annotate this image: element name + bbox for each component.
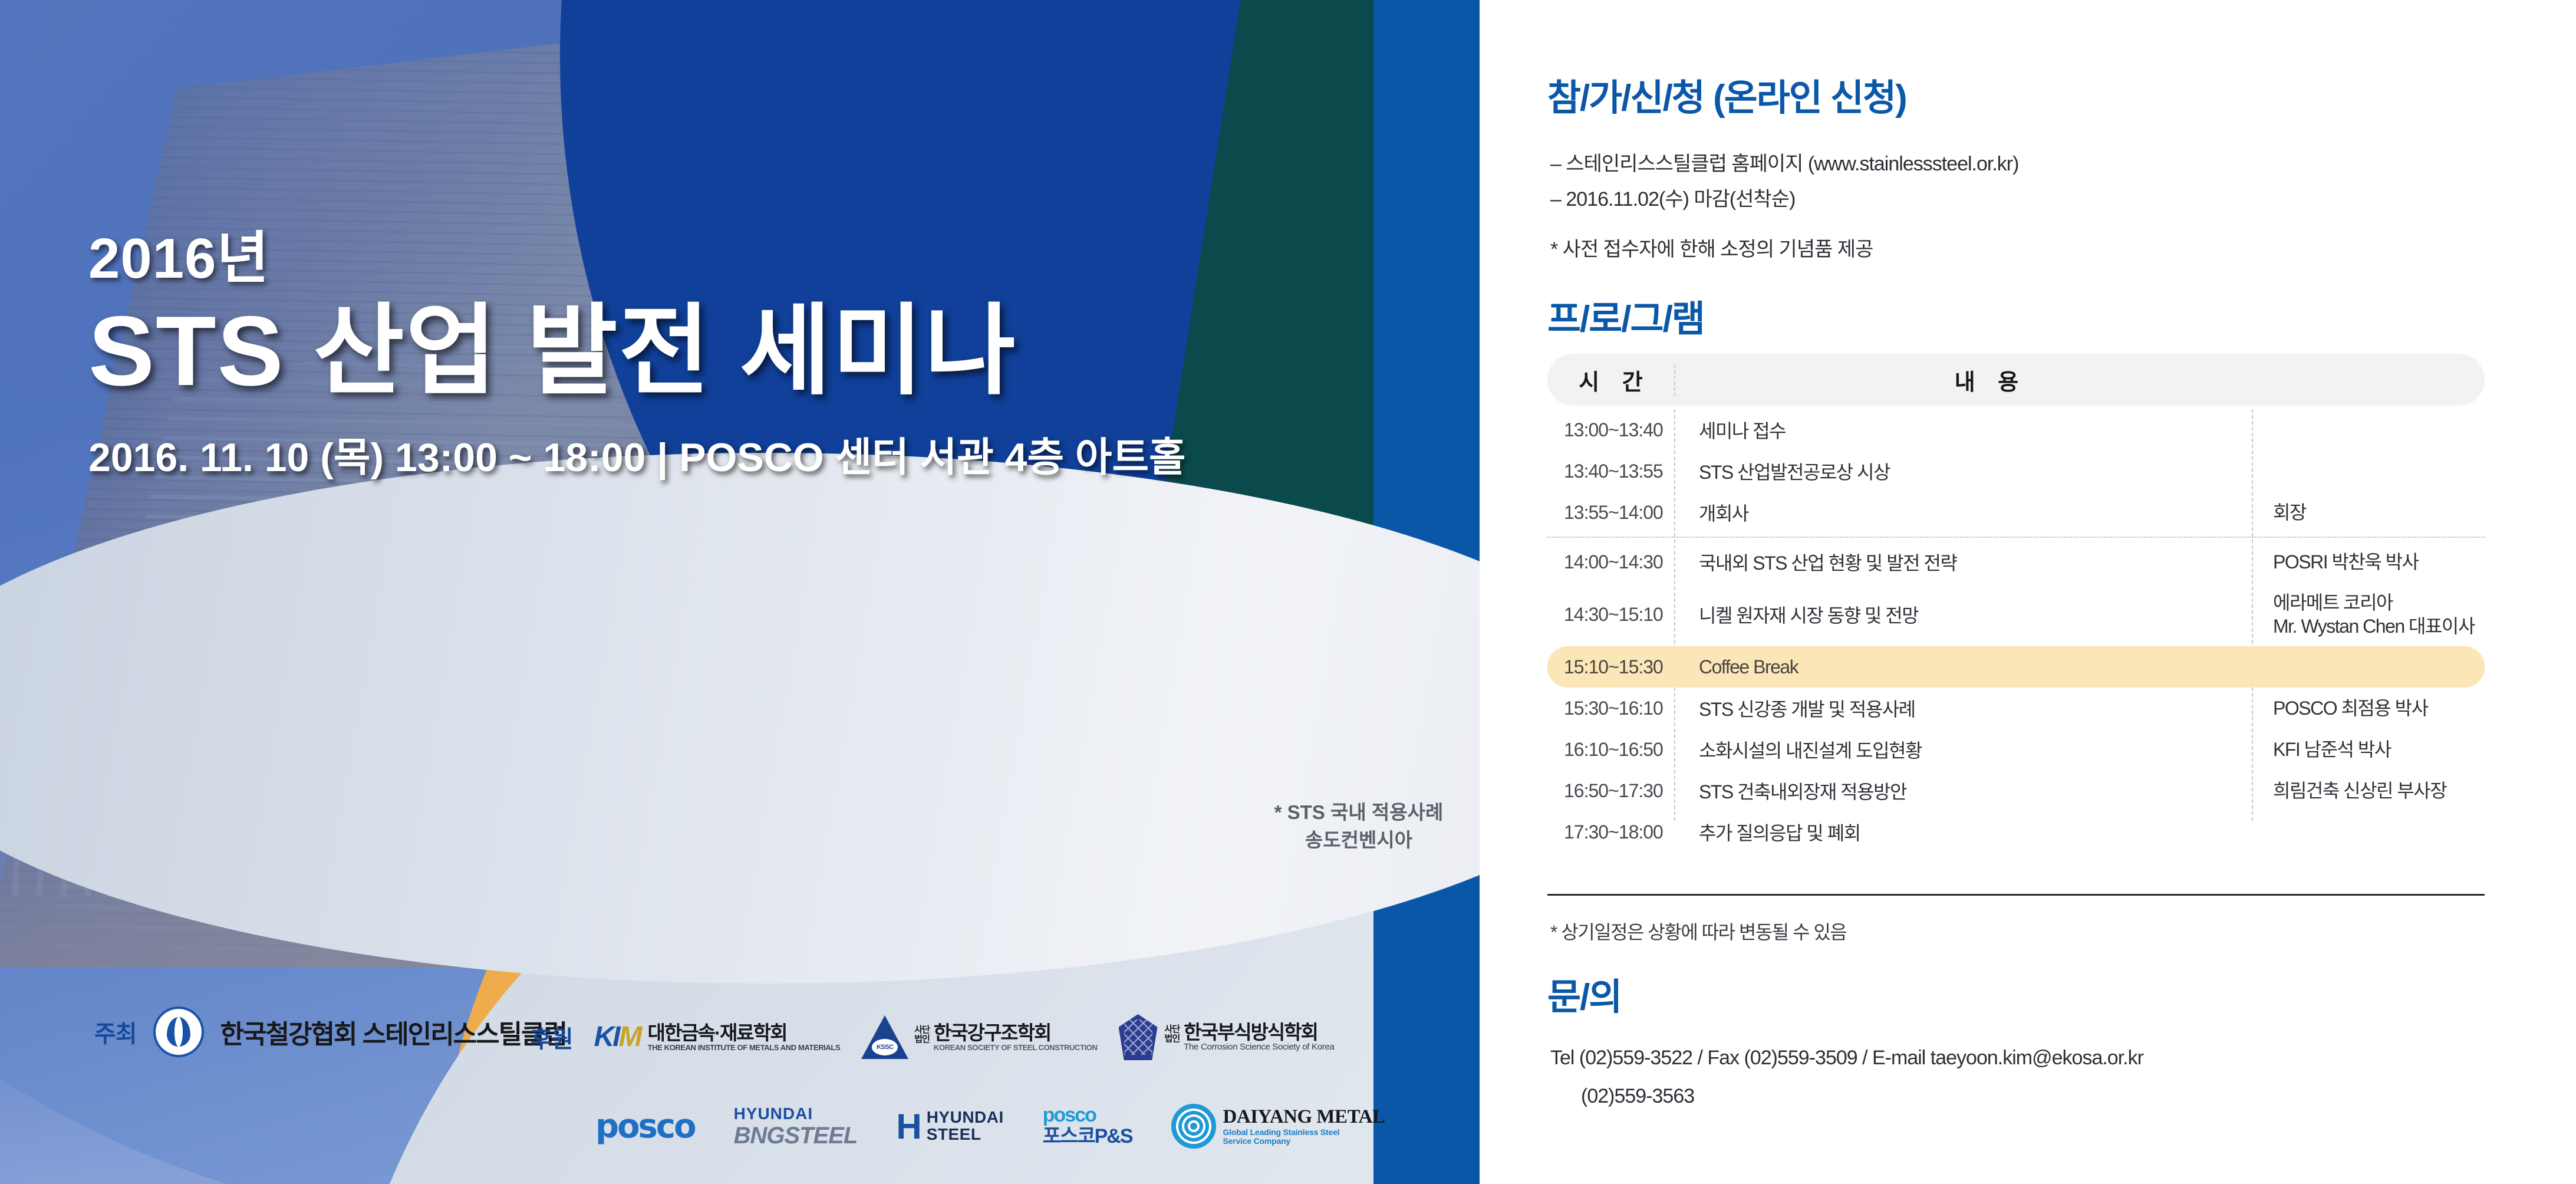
hyundai-h-icon: H bbox=[896, 1111, 921, 1142]
info-panel: 참/가/신/청 (온라인 신청) – 스테인리스스틸클럽 홈페이지 (www.s… bbox=[1480, 0, 2576, 1184]
program-row: 14:30~15:10니켈 원자재 시장 동향 및 전망에라메트 코리아Mr. … bbox=[1547, 583, 2485, 646]
hyundai-steel-line2: STEEL bbox=[927, 1126, 1004, 1143]
bng-bng-text: BNG bbox=[734, 1123, 785, 1149]
photo-caption-line-1: * STS 국내 적용사례 bbox=[1261, 799, 1456, 827]
host-row: 주최 한국철강협회 스테인리스스틸클럽 bbox=[94, 1007, 566, 1057]
program-row: 15:10~15:30Coffee Break bbox=[1547, 646, 2485, 688]
program-row-topic: 추가 질의응답 및 폐회 bbox=[1674, 818, 2252, 846]
program-row: 16:50~17:30STS 건축내외장재 적용방안희림건축 신상린 부사장 bbox=[1547, 770, 2485, 811]
program-row: 17:30~18:00추가 질의응답 및 폐회 bbox=[1547, 811, 2485, 853]
application-heading: 참/가/신/청 (온라인 신청) bbox=[1547, 68, 1906, 121]
posco-logo: posco bbox=[595, 1107, 695, 1146]
program-row-time: 17:30~18:00 bbox=[1547, 821, 1674, 843]
table-bottom-rule bbox=[1547, 894, 2485, 896]
kssc-name-kr: 한국강구조학회 bbox=[934, 1023, 1098, 1044]
program-row: 13:40~13:55STS 산업발전공로상 시상 bbox=[1547, 450, 2485, 492]
hyundai-steel-logo: H HYUNDAI STEEL bbox=[896, 1109, 1003, 1143]
corporate-logo-row: posco HYUNDAI BNGSTEEL H HYUNDAI STEEL p… bbox=[595, 1104, 1385, 1149]
program-table-header: 시 간 내 용 bbox=[1547, 354, 2485, 406]
csskr-name-kr: 한국부식방식학회 bbox=[1184, 1022, 1334, 1043]
kim-name-en: THE KOREAN INSTITUTE OF METALS AND MATER… bbox=[648, 1044, 841, 1052]
program-row-topic: Coffee Break bbox=[1674, 656, 2252, 678]
pns-kr-text: 포스코P&S bbox=[1043, 1126, 1132, 1147]
daiyang-target-icon bbox=[1171, 1104, 1216, 1149]
bng-steel-text: STEEL bbox=[784, 1123, 857, 1149]
kisa-logo-icon bbox=[153, 1007, 204, 1057]
host-organization: 한국철강협회 스테인리스스틸클럽 bbox=[220, 1013, 566, 1051]
program-row-topic: 개회사 bbox=[1674, 499, 2252, 526]
program-row-time: 13:55~14:00 bbox=[1547, 502, 1674, 524]
program-row-topic: STS 신강종 개발 및 적용사례 bbox=[1674, 695, 2252, 722]
program-row-time: 15:30~16:10 bbox=[1547, 698, 1674, 719]
program-table-body: 13:00~13:40세미나 접수13:40~13:55STS 산업발전공로상 … bbox=[1547, 409, 2485, 853]
hyundai-steel-line1: HYUNDAI bbox=[927, 1109, 1004, 1126]
program-row-time: 13:40~13:55 bbox=[1547, 461, 1674, 482]
kssc-triangle-icon bbox=[861, 1015, 908, 1059]
poster-visual-panel: 2016년 STS 산업 발전 세미나 2016. 11. 10 (목) 13:… bbox=[0, 0, 1480, 1184]
kssc-name-en: KOREAN SOCIETY OF STEEL CONSTRUCTION bbox=[934, 1044, 1098, 1052]
program-row-topic: 니켈 원자재 시장 동향 및 전망 bbox=[1674, 601, 2252, 628]
bng-steel-logo: HYUNDAI BNGSTEEL bbox=[734, 1106, 858, 1147]
program-row-time: 14:30~15:10 bbox=[1547, 604, 1674, 626]
photo-caption: * STS 국내 적용사례 송도컨벤시아 bbox=[1261, 799, 1456, 854]
program-row-time: 14:00~14:30 bbox=[1547, 551, 1674, 573]
program-row-speaker: POSRI 박찬욱 박사 bbox=[2252, 550, 2485, 574]
bng-hyundai-text: HYUNDAI bbox=[734, 1106, 858, 1122]
program-row: 13:00~13:40세미나 접수 bbox=[1547, 409, 2485, 450]
host-label: 주최 bbox=[94, 1015, 137, 1049]
sponsor-label: 후원 bbox=[531, 1020, 573, 1054]
csskr-name-en: The Corrosion Science Society of Korea bbox=[1184, 1042, 1334, 1052]
contact-line-1: Tel (02)559-3522 / Fax (02)559-3509 / E-… bbox=[1550, 1047, 2143, 1070]
kssc-logo: 사단법인 한국강구조학회 KOREAN SOCIETY OF STEEL CON… bbox=[861, 1015, 1097, 1059]
bottom-curve bbox=[0, 453, 1480, 984]
daiyang-tagline2: Service Company bbox=[1223, 1137, 1385, 1146]
program-footnote: * 상기일정은 상황에 따라 변동될 수 있음 bbox=[1550, 917, 1846, 945]
csskr-prefix: 사단법인 bbox=[1165, 1022, 1180, 1044]
photo-caption-line-2: 송도컨벤시아 bbox=[1261, 827, 1456, 854]
program-row-topic: STS 건축내외장재 적용방안 bbox=[1674, 777, 2252, 804]
poster-datetime-venue: 2016. 11. 10 (목) 13:00 ~ 18:00 | POSCO 센… bbox=[88, 425, 1186, 483]
seminar-poster: 2016년 STS 산업 발전 세미나 2016. 11. 10 (목) 13:… bbox=[0, 0, 2576, 1184]
program-row-speaker: 에라메트 코리아Mr. Wystan Chen 대표이사 bbox=[2252, 591, 2485, 639]
program-row-time: 16:50~17:30 bbox=[1547, 780, 1674, 802]
column-header-content: 내 용 bbox=[1674, 354, 2299, 406]
program-row-topic: 국내외 STS 산업 현황 및 발전 전략 bbox=[1674, 548, 2252, 575]
kim-name-kr: 대한금속·재료학회 bbox=[648, 1023, 841, 1044]
sponsor-row: 후원 KIM 대한금속·재료학회 THE KOREAN INSTITUTE OF… bbox=[531, 1014, 1335, 1060]
application-note: * 사전 접수자에 한해 소정의 기념품 제공 bbox=[1550, 233, 1873, 262]
program-row-speaker: POSCO 최점용 박사 bbox=[2252, 696, 2485, 720]
kim-logo: KIM 대한금속·재료학회 THE KOREAN INSTITUTE OF ME… bbox=[594, 1023, 841, 1051]
program-row-speaker: KFI 남준석 박사 bbox=[2252, 738, 2485, 761]
program-row: 15:30~16:10STS 신강종 개발 및 적용사례POSCO 최점용 박사 bbox=[1547, 688, 2485, 729]
posco-pns-logo: posco 포스코P&S bbox=[1043, 1105, 1132, 1147]
program-row-speaker: 회장 bbox=[2252, 501, 2485, 524]
kssc-prefix: 사단법인 bbox=[914, 1023, 930, 1045]
program-row-separator bbox=[1547, 537, 2485, 538]
kim-mark-icon: KIM bbox=[594, 1023, 641, 1051]
program-row: 13:55~14:00개회사회장 bbox=[1547, 492, 2485, 533]
application-line-2: – 2016.11.02(수) 마감(선착순) bbox=[1550, 183, 1795, 212]
daiyang-tagline1: Global Leading Stainless Steel bbox=[1223, 1128, 1385, 1137]
daiyang-name: DAIYANG METAL bbox=[1223, 1106, 1385, 1127]
contact-line-2: (02)559-3563 bbox=[1581, 1085, 1694, 1108]
program-table: 시 간 내 용 13:00~13:40세미나 접수13:40~13:55STS … bbox=[1547, 354, 2485, 853]
program-row-speaker: 희림건축 신상린 부사장 bbox=[2252, 779, 2485, 803]
column-header-time: 시 간 bbox=[1547, 354, 1674, 406]
csskr-crystal-icon bbox=[1119, 1014, 1158, 1060]
daiyang-metal-logo: DAIYANG METAL Global Leading Stainless S… bbox=[1171, 1104, 1385, 1149]
program-row-topic: 소화시설의 내진설계 도입현황 bbox=[1674, 736, 2252, 763]
program-row: 16:10~16:50소화시설의 내진설계 도입현황KFI 남준석 박사 bbox=[1547, 729, 2485, 770]
pns-posco-text: posco bbox=[1043, 1105, 1132, 1126]
program-row-time: 15:10~15:30 bbox=[1547, 656, 1674, 678]
poster-title: STS 산업 발전 세미나 bbox=[88, 298, 1186, 404]
program-heading: 프/로/그/램 bbox=[1547, 289, 1704, 342]
csskr-logo: 사단법인 한국부식방식학회 The Corrosion Science Soci… bbox=[1119, 1014, 1335, 1060]
poster-title-block: 2016년 STS 산업 발전 세미나 2016. 11. 10 (목) 13:… bbox=[88, 212, 1186, 483]
program-row: 14:00~14:30국내외 STS 산업 현황 및 발전 전략POSRI 박찬… bbox=[1547, 541, 2485, 583]
program-row-time: 13:00~13:40 bbox=[1547, 419, 1674, 441]
program-row-time: 16:10~16:50 bbox=[1547, 739, 1674, 761]
application-line-1: – 스테인리스스틸클럽 홈페이지 (www.stainlesssteel.or.… bbox=[1550, 147, 2018, 176]
contact-heading: 문/의 bbox=[1547, 967, 1621, 1020]
program-row-topic: 세미나 접수 bbox=[1674, 416, 2252, 443]
poster-year: 2016년 bbox=[88, 212, 1186, 294]
program-row-topic: STS 산업발전공로상 시상 bbox=[1674, 458, 2252, 485]
